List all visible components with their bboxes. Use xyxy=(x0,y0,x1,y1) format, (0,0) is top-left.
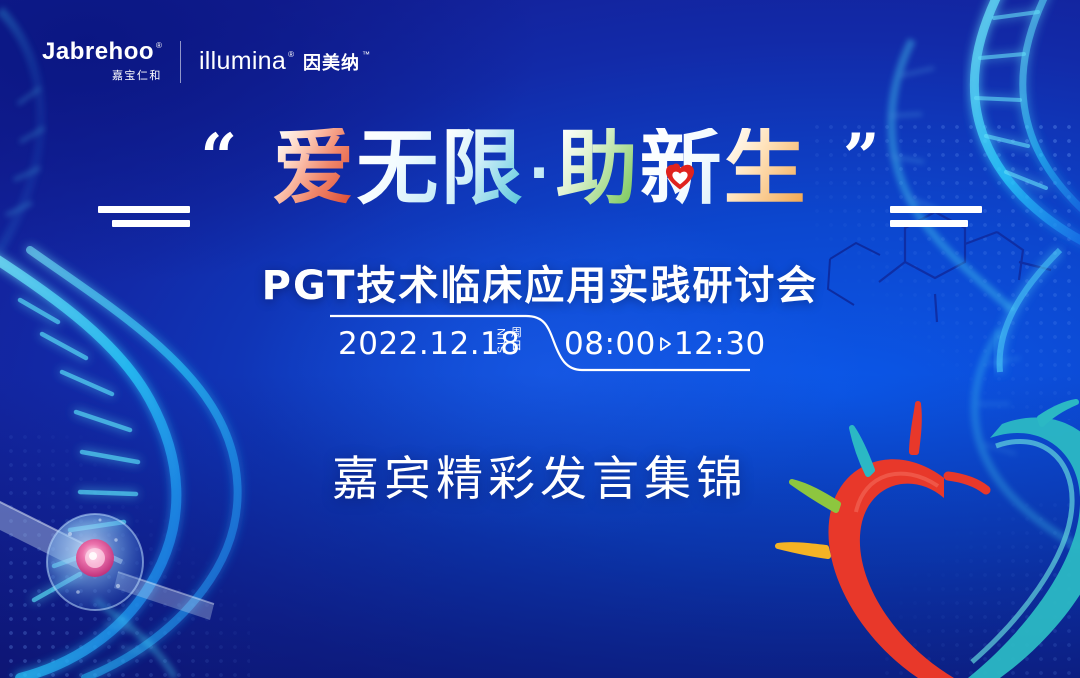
title-char-zhu: 助 xyxy=(556,128,640,210)
decorative-bar xyxy=(890,220,968,227)
headline: 嘉宾精彩发言集锦 xyxy=(0,440,1080,509)
event-time-end: 12:30 xyxy=(674,326,766,362)
event-time-start: 08:00 xyxy=(564,326,656,362)
main-title: 爱无限·助新生 xyxy=(206,128,873,210)
title-row: “ ” 爱无限·助新生 xyxy=(206,128,873,210)
title-char-ai: 爱 xyxy=(272,128,356,210)
registered-mark-icon: ® xyxy=(156,42,162,50)
registered-mark-icon: ® xyxy=(288,51,294,59)
promotional-banner: Jabrehoo ® 嘉宝仁和 illumina ® 因美纳 ™ “ ” xyxy=(0,0,1080,678)
family-heart-icon xyxy=(663,158,697,192)
weekday-chinese-line1: 周 xyxy=(511,327,522,340)
jabrehoo-logo: Jabrehoo ® 嘉宝仁和 xyxy=(42,40,162,83)
quote-open-mark: “ xyxy=(200,132,237,183)
weekday-chinese: 周 日 xyxy=(511,327,522,352)
title-char-wu: 无 xyxy=(356,128,440,210)
event-date: 2022.12.18 xyxy=(338,326,521,362)
decorative-bar xyxy=(890,206,982,213)
play-triangle-icon xyxy=(657,335,673,353)
logo-divider xyxy=(180,41,181,83)
title-block: “ ” 爱无限·助新生 xyxy=(0,128,1080,210)
quote-close-mark: ” xyxy=(843,132,880,183)
jabrehoo-wordmark: Jabrehoo ® xyxy=(42,40,162,64)
jabrehoo-logo-chinese: 嘉宝仁和 xyxy=(112,67,162,83)
decorative-bar xyxy=(112,220,190,227)
title-separator-dot: · xyxy=(528,146,551,202)
illumina-logo-text: illumina xyxy=(199,49,286,74)
title-char-xian: 限 xyxy=(440,128,524,210)
halftone-dot-pattern-bottom-right xyxy=(880,498,1080,678)
weekday-tag: SUN 周 日 xyxy=(497,327,522,353)
trademark-mark-icon: ™ xyxy=(362,51,370,59)
decorative-bar xyxy=(98,206,190,213)
illumina-logo-chinese: 因美纳 xyxy=(303,49,360,75)
weekday-english: SUN xyxy=(497,327,508,353)
title-char-sheng: 生 xyxy=(724,128,808,210)
jabrehoo-logo-text: Jabrehoo xyxy=(42,40,154,64)
decorative-bars-left xyxy=(98,206,190,227)
schedule-bar: 2022.12.18 SUN 周 日 08:00 12:30 xyxy=(0,312,1080,374)
illumina-logo: illumina ® 因美纳 ™ xyxy=(199,49,370,75)
event-time-range: 08:00 12:30 xyxy=(564,326,766,362)
subtitle: PGT技术临床应用实践研讨会 xyxy=(0,253,1080,311)
decorative-bars-right xyxy=(890,206,982,227)
logo-bar: Jabrehoo ® 嘉宝仁和 illumina ® 因美纳 ™ xyxy=(42,40,370,83)
weekday-chinese-line2: 日 xyxy=(511,340,522,353)
